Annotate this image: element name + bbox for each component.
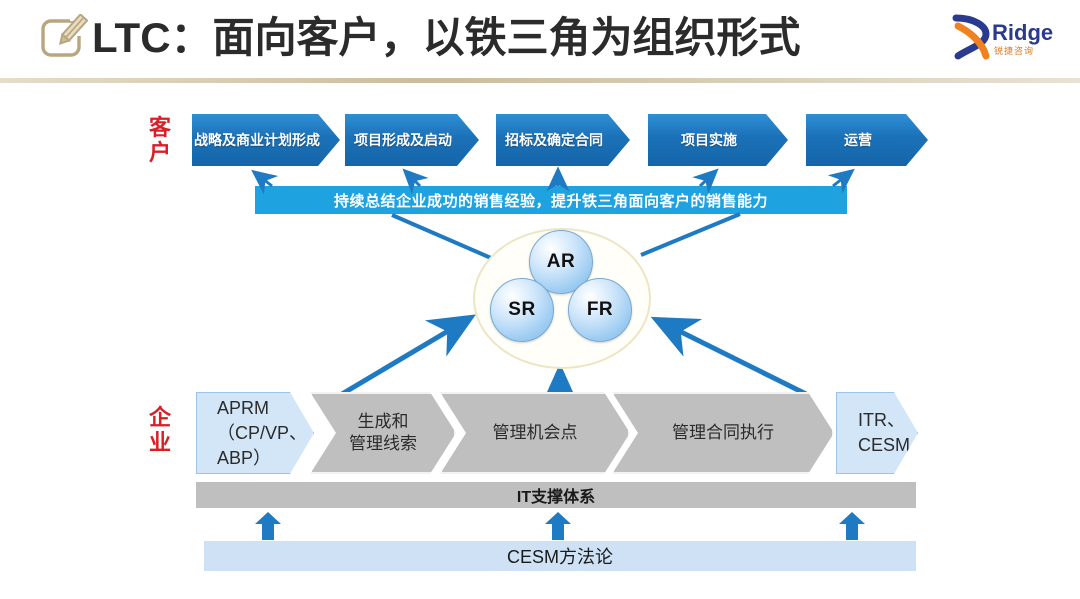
triangle-node-sr[interactable]: SR [490,278,554,342]
customer-stage-label: 项目形成及启动 [345,132,461,149]
cesm-method-bar-label: CESM方法论 [507,543,613,569]
it-support-bar-label: IT支撑体系 [517,483,595,507]
it-support-bar: IT支撑体系 [196,482,916,508]
customer-stage-chevron[interactable]: 战略及商业计划形成 [192,114,340,166]
customer-stage-chevron[interactable]: 项目形成及启动 [345,114,479,166]
ridge-logo: Ridge 锐捷咨询 [952,8,1068,70]
slide-header: LTC：面向客户，以铁三角为组织形式 Ridge 锐捷咨询 [0,0,1080,78]
customer-stage-chevron[interactable]: 招标及确定合同 [496,114,630,166]
enterprise-process-label: ITR、 CESM [844,408,910,458]
customer-stage-label: 战略及商业计划形成 [192,132,322,149]
support-up-arrow-icon [254,512,282,540]
iron-triangle-cluster: AR SR FR [473,228,647,365]
enterprise-process-label: APRM （CP/VP、 ABP） [203,396,307,471]
triangle-node-sr-label: SR [508,299,535,321]
enterprise-process-chevron[interactable]: 管理机会点 [440,392,630,474]
header-divider [0,78,1080,83]
page-title: LTC：面向客户，以铁三角为组织形式 [92,8,801,68]
enterprise-process-label: 管理合同执行 [614,422,832,444]
capability-banner-text: 持续总结企业成功的销售经验，提升铁三角面向客户的销售能力 [334,190,768,211]
customer-stage-label: 招标及确定合同 [496,132,612,149]
customer-stage-label: 项目实施 [648,132,770,149]
pencil-edit-icon [40,14,88,62]
logo-subtitle: 锐捷咨询 [994,44,1034,57]
logo-wordmark: Ridge [992,20,1053,46]
enterprise-process-chevron[interactable]: 生成和 管理线索 [310,392,456,474]
triangle-node-fr-label: FR [587,299,613,321]
section-label-enterprise: 企业 [146,405,174,455]
customer-stage-label: 运营 [806,132,910,149]
triangle-node-ar-label: AR [547,251,575,273]
enterprise-process-chevron[interactable]: 管理合同执行 [612,392,834,474]
support-up-arrow-icon [544,512,572,540]
section-label-customer: 客户 [146,115,174,165]
enterprise-process-chevron[interactable]: APRM （CP/VP、 ABP） [196,392,314,474]
support-up-arrow-icon [838,512,866,540]
enterprise-process-chevron[interactable]: ITR、 CESM [836,392,918,474]
customer-stage-chevron[interactable]: 项目实施 [648,114,788,166]
enterprise-process-label: 管理机会点 [442,422,628,444]
capability-banner: 持续总结企业成功的销售经验，提升铁三角面向客户的销售能力 [255,186,847,214]
triangle-node-fr[interactable]: FR [568,278,632,342]
enterprise-process-label: 生成和 管理线索 [312,411,454,455]
cesm-method-bar: CESM方法论 [204,541,916,571]
slide-canvas: LTC：面向客户，以铁三角为组织形式 Ridge 锐捷咨询 客户 企业 战略及商… [0,0,1080,599]
banner-to-stage-arrows [254,170,852,186]
customer-stage-chevron[interactable]: 运营 [806,114,928,166]
